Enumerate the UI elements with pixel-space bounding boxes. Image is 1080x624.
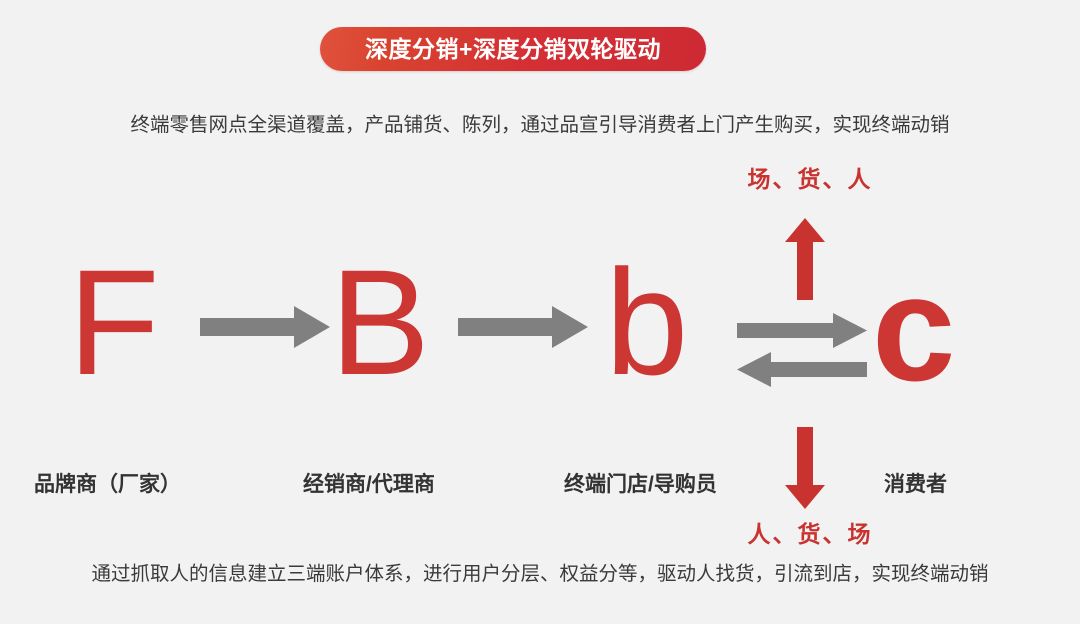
title-text: 深度分销+深度分销双轮驱动 — [365, 38, 661, 61]
arrow-c-to-b-icon — [737, 352, 867, 392]
chain-letter-F: F — [68, 247, 160, 397]
note-top-chang-huo-ren: 场、货、人 — [690, 160, 930, 194]
arrow-f-to-b-icon — [200, 305, 330, 354]
note-bottom-ren-huo-chang: 人、货、场 — [690, 515, 930, 549]
arrow-c-up-icon — [785, 218, 825, 305]
diagram-canvas: 深度分销+深度分销双轮驱动 终端零售网点全渠道覆盖，产品铺货、陈列，通过品宣引导… — [0, 0, 1080, 624]
role-label-brand: 品牌商（厂家） — [34, 468, 181, 498]
role-label-dealer: 经销商/代理商 — [303, 468, 435, 498]
arrow-b-to-c-icon — [737, 313, 867, 353]
chain-letter-c: c — [872, 253, 955, 403]
arrow-b-to-b-icon — [458, 305, 588, 354]
top-description: 终端零售网点全渠道覆盖，产品铺货、陈列，通过品宣引导消费者上门产生购买，实现终端… — [0, 113, 1080, 138]
role-label-store: 终端门店/导购员 — [564, 468, 717, 498]
role-label-consumer: 消费者 — [884, 468, 947, 498]
title-badge: 深度分销+深度分销双轮驱动 — [320, 27, 706, 71]
arrow-c-down-icon — [785, 427, 825, 514]
bottom-description: 通过抓取人的信息建立三端账户体系，进行用户分层、权益分等，驱动人找货，引流到店，… — [0, 562, 1080, 587]
chain-letter-B: B — [330, 247, 430, 397]
chain-letter-b: b — [605, 247, 688, 397]
